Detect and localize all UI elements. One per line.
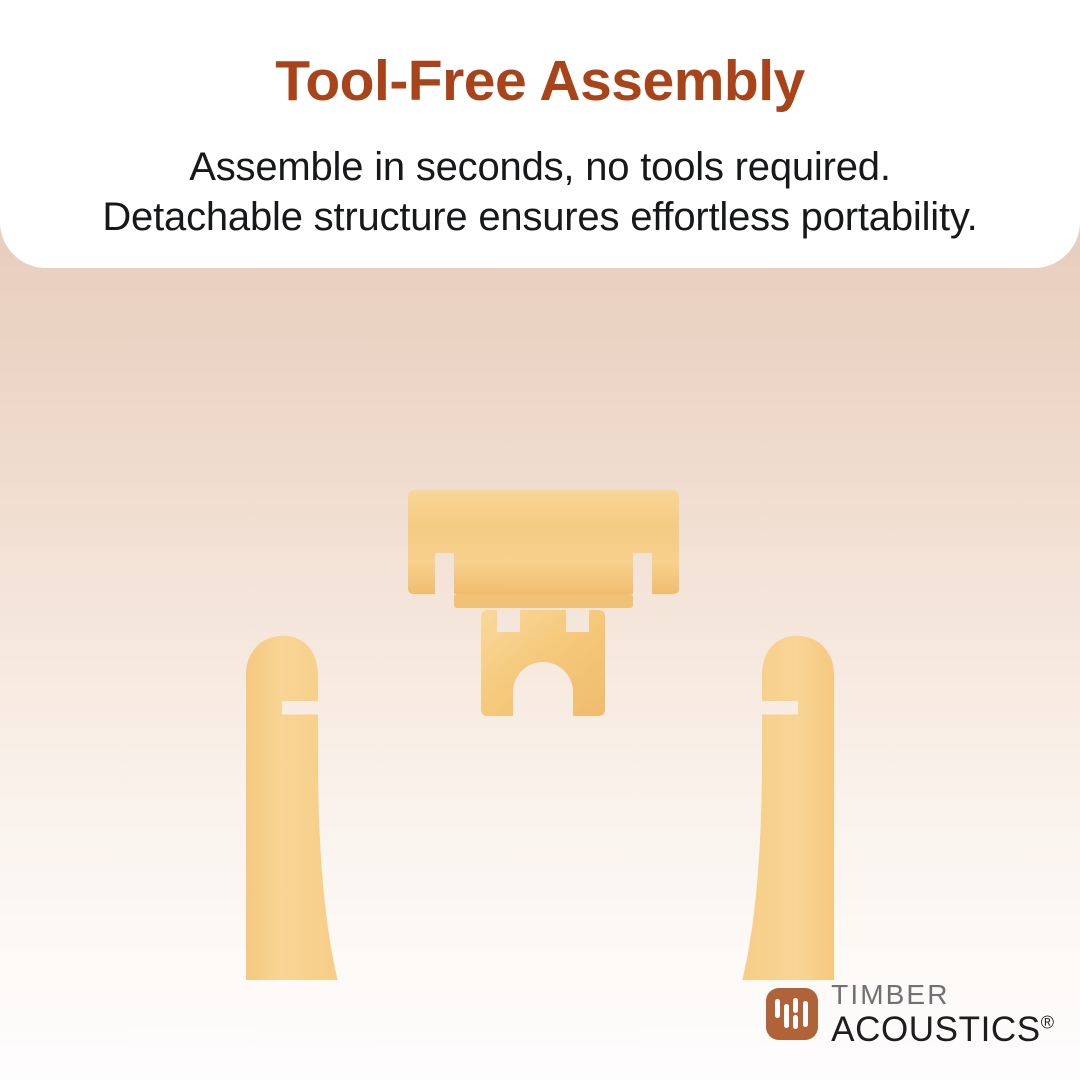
part-center-connector [481,610,605,716]
subtitle-line-1: Assemble in seconds, no tools required. [0,142,1080,192]
brand-name-timber: TIMBER [831,981,1054,1009]
brand-logo: TIMBER ACOUSTICS® [766,981,1054,1047]
logo-bar-5 [803,1001,808,1027]
product-parts-illustration [0,300,1080,980]
logo-bar-1 [775,999,780,1018]
brand-wordmark: TIMBER ACOUSTICS® [831,981,1054,1047]
registered-trademark-icon: ® [1041,1012,1054,1032]
part-top-crossbar [408,490,679,608]
timber-acoustics-logo-mark [766,988,818,1040]
page-title: Tool-Free Assembly [0,52,1080,112]
logo-bar-4 [793,1015,798,1029]
subtitle-line-2: Detachable structure ensures effortless … [0,192,1080,242]
brand-name-acoustics: ACOUSTICS® [831,1012,1054,1047]
crossbar-tab [454,594,633,608]
infographic-page: Tool-Free Assembly Assemble in seconds, … [0,0,1080,1080]
connector-body [481,610,605,716]
crossbar-body [408,490,679,594]
header-card: Tool-Free Assembly Assemble in seconds, … [0,0,1080,268]
logo-bar-2 [784,1004,789,1028]
brand-acoustics-text: ACOUSTICS [831,1010,1041,1049]
subtitle-block: Assemble in seconds, no tools required. … [0,142,1080,243]
product-image [0,300,1080,980]
logo-bar-3 [793,998,798,1013]
